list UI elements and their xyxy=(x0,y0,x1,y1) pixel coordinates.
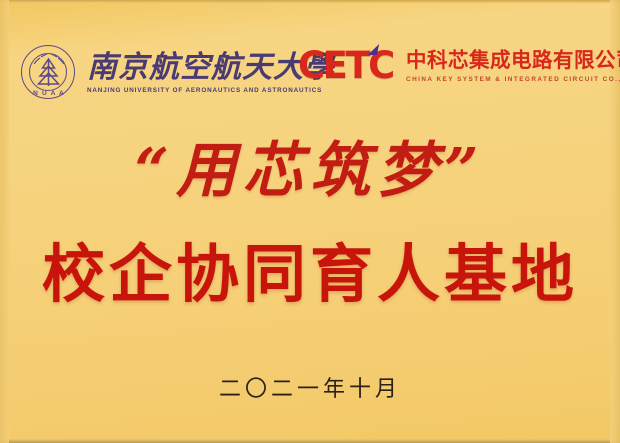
svg-text:N U A A: N U A A xyxy=(33,90,65,97)
cetc-logo-icon: CETC xyxy=(298,46,394,86)
logo-row: N U A A 南京航空航天大學 NANJING UNIVERSITY OF A… xyxy=(0,44,620,110)
university-logo-block: N U A A 南京航空航天大學 NANJING UNIVERSITY OF A… xyxy=(20,44,335,102)
plaque-headline: 校企协同育人基地 xyxy=(0,243,620,306)
company-logo-block: CETC 中科芯集成电路有限公司 CHINA KEY SYSTEM & INTE… xyxy=(298,46,620,86)
award-plaque: N U A A 南京航空航天大學 NANJING UNIVERSITY OF A… xyxy=(0,0,620,443)
company-name-block: 中科芯集成电路有限公司 CHINA KEY SYSTEM & INTEGRATE… xyxy=(406,49,620,83)
university-name-en: NANJING UNIVERSITY OF AERONAUTICS AND AS… xyxy=(87,87,335,94)
company-name-en: CHINA KEY SYSTEM & INTEGRATED CIRCUIT CO… xyxy=(406,76,620,83)
plaque-bottom-edge xyxy=(0,439,620,443)
cetc-wordmark: CETC xyxy=(298,46,394,86)
plaque-date: 二〇二一年十月 xyxy=(0,371,620,403)
company-name-cn: 中科芯集成电路有限公司 xyxy=(406,49,620,72)
plaque-slogan: “用芯筑梦” xyxy=(0,141,620,201)
seal-emblem-icon: N U A A xyxy=(20,44,78,102)
plaque-top-edge xyxy=(0,0,620,3)
nuaa-seal-icon: N U A A xyxy=(20,44,78,102)
